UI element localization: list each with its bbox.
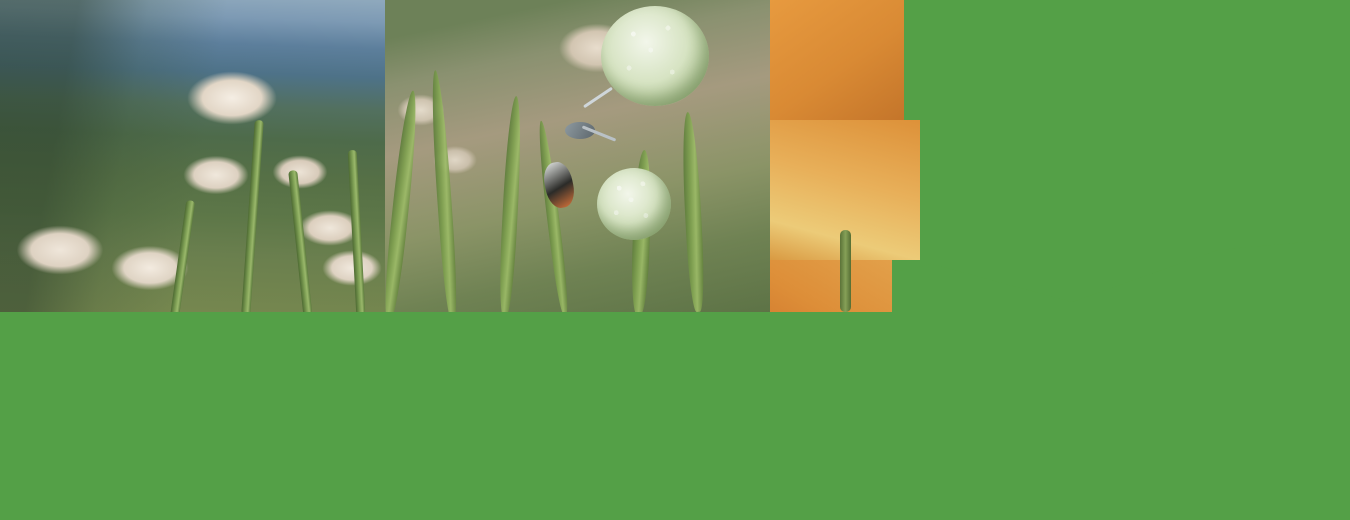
plant-stem (840, 230, 851, 312)
butterfly-antenna (583, 87, 613, 108)
mountain-buckwheat-photo (0, 0, 385, 312)
plant-stem (348, 150, 366, 312)
white-sand-verbena-photo (1050, 0, 1350, 312)
orange-globemallow-photo (770, 0, 1050, 312)
globemallow-flower (770, 0, 1050, 312)
verbena-floret (1050, 70, 1124, 144)
plant-stem (241, 120, 264, 312)
checkerspot-butterfly (469, 78, 609, 208)
verbena-floret (1050, 282, 1118, 312)
webinar-promo-banner: Photos courtesy of Matt Berger, Alex Seg… (0, 0, 1350, 520)
plant-stem (288, 170, 313, 312)
grass-blade (385, 90, 421, 312)
flower-petal (770, 260, 892, 312)
plant-stem (170, 200, 196, 312)
photo-strip (0, 0, 1350, 312)
allium-flower-head (601, 6, 709, 106)
butterfly-photo (385, 0, 770, 312)
verbena-floret (1050, 0, 1120, 70)
grass-blade (680, 112, 706, 312)
verbena-floret (1050, 144, 1116, 210)
verbena-floret (1050, 210, 1122, 282)
flower-petal (770, 0, 904, 120)
grass-blade (428, 70, 459, 312)
